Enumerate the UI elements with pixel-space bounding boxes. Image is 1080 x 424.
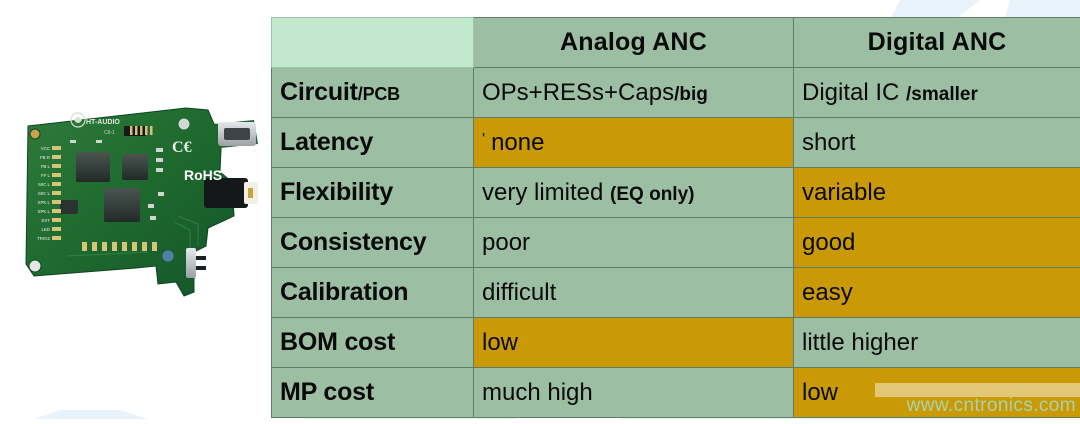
feature-text: MP cost bbox=[280, 378, 374, 406]
cell-text: little higher bbox=[802, 329, 918, 356]
svg-text:MIC L: MIC L bbox=[38, 182, 50, 187]
svg-text:MIC L: MIC L bbox=[38, 191, 50, 196]
cell-analog-circuit: OPs+RESs+Caps/big bbox=[474, 68, 794, 118]
feature-text: Consistency bbox=[280, 228, 426, 256]
svg-text:FF L: FF L bbox=[41, 173, 51, 178]
table-header-row: Analog ANC Digital ANC bbox=[272, 18, 1080, 68]
feature-text: BOM cost bbox=[280, 328, 395, 356]
cell-subnote: /smaller bbox=[906, 84, 978, 105]
cell-text: OPs+RESs+Caps bbox=[482, 79, 674, 106]
feature-subnote: /PCB bbox=[358, 84, 400, 104]
cell-analog-consistency: poor bbox=[474, 218, 794, 268]
table-row: Consistency poor good bbox=[272, 218, 1080, 268]
svg-text:RoHS: RoHS bbox=[184, 167, 222, 183]
feature-label-latency: Latency bbox=[272, 118, 474, 168]
table-row: Circuit/PCB OPs+RESs+Caps/big Digital IC… bbox=[272, 68, 1080, 118]
svg-text:SPK L: SPK L bbox=[38, 200, 51, 205]
cell-analog-latency: 'none bbox=[474, 118, 794, 168]
feature-label-mp-cost: MP cost bbox=[272, 368, 474, 418]
table-row: Flexibility very limited (EQ only) varia… bbox=[272, 168, 1080, 218]
cell-analog-calibration: difficult bbox=[474, 268, 794, 318]
cell-digital-circuit: Digital IC /smaller bbox=[794, 68, 1080, 118]
svg-text:TRIG2: TRIG2 bbox=[37, 236, 50, 241]
table-corner-cell bbox=[272, 18, 474, 68]
feature-label-calibration: Calibration bbox=[272, 268, 474, 318]
cell-subnote: (EQ only) bbox=[610, 184, 694, 205]
cell-text: none bbox=[491, 129, 544, 156]
cell-text: easy bbox=[802, 279, 853, 306]
svg-text:VCC: VCC bbox=[41, 146, 50, 151]
svg-text:FB R: FB R bbox=[40, 155, 50, 160]
svg-text:HT-AUDIO: HT-AUDIO bbox=[86, 119, 120, 126]
table-row: BOM cost low little higher bbox=[272, 318, 1080, 368]
cell-text: low bbox=[482, 329, 518, 356]
svg-text:LED: LED bbox=[41, 227, 50, 232]
anc-comparison-table: Analog ANC Digital ANC Circuit/PCB OPs+R… bbox=[271, 17, 1080, 418]
cell-text: short bbox=[802, 129, 855, 156]
table-row: Latency 'none short bbox=[272, 118, 1080, 168]
cell-analog-bom-cost: low bbox=[474, 318, 794, 368]
site-watermark: www.cntronics.com bbox=[907, 395, 1076, 417]
feature-text: Circuit bbox=[280, 78, 358, 106]
column-header-digital: Digital ANC bbox=[794, 18, 1080, 68]
feature-text: Flexibility bbox=[280, 178, 393, 206]
svg-text:FB L: FB L bbox=[41, 164, 51, 169]
cell-digital-consistency: good bbox=[794, 218, 1080, 268]
cell-text: variable bbox=[802, 179, 886, 206]
cell-lead-mark: ' bbox=[482, 131, 485, 148]
feature-text: Latency bbox=[280, 128, 373, 156]
column-header-analog: Analog ANC bbox=[474, 18, 794, 68]
feature-label-bom-cost: BOM cost bbox=[272, 318, 474, 368]
svg-text:C€: C€ bbox=[172, 139, 192, 156]
feature-label-flexibility: Flexibility bbox=[272, 168, 474, 218]
cell-text: much high bbox=[482, 379, 593, 406]
feature-label-circuit: Circuit/PCB bbox=[272, 68, 474, 118]
cell-analog-flexibility: very limited (EQ only) bbox=[474, 168, 794, 218]
cell-text: Digital IC bbox=[802, 79, 906, 106]
cell-analog-mp-cost: much high bbox=[474, 368, 794, 418]
pcb-board-image: HT-AUDIO C8-1 C€ RoHS bbox=[8, 96, 266, 314]
cell-digital-bom-cost: little higher bbox=[794, 318, 1080, 368]
svg-text:C8-1: C8-1 bbox=[104, 130, 115, 136]
cell-text: very limited bbox=[482, 179, 610, 206]
cell-digital-flexibility: variable bbox=[794, 168, 1080, 218]
cell-subnote: /big bbox=[674, 84, 708, 105]
cell-text: good bbox=[802, 229, 855, 256]
cell-text: low bbox=[802, 379, 838, 406]
cell-digital-latency: short bbox=[794, 118, 1080, 168]
cell-text: poor bbox=[482, 229, 530, 256]
table-row: Calibration difficult easy bbox=[272, 268, 1080, 318]
svg-text:SPK L: SPK L bbox=[38, 209, 51, 214]
cell-text: difficult bbox=[482, 279, 556, 306]
feature-label-consistency: Consistency bbox=[272, 218, 474, 268]
feature-text: Calibration bbox=[280, 278, 408, 306]
cell-digital-calibration: easy bbox=[794, 268, 1080, 318]
svg-text:EXT: EXT bbox=[41, 218, 50, 223]
